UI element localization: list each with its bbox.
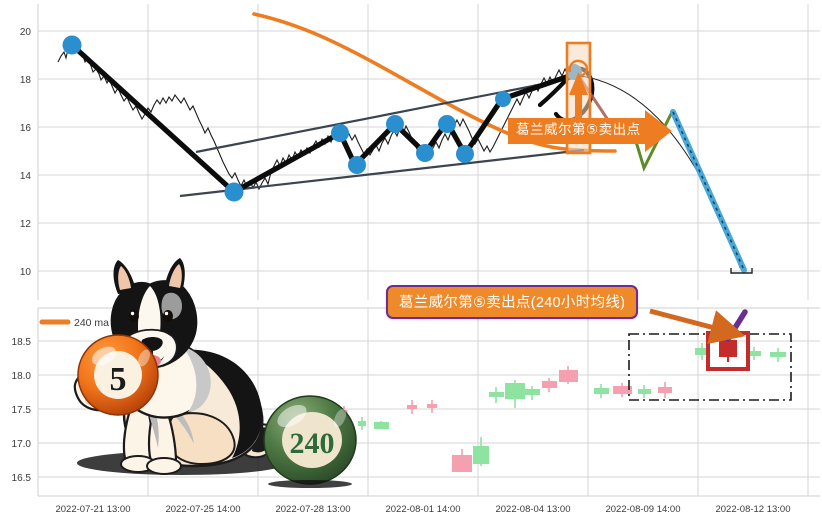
pivot-dot	[63, 36, 82, 55]
y-tick-20: 20	[20, 27, 32, 38]
candle-body	[594, 388, 609, 394]
pivot-dot	[438, 115, 456, 133]
pivot-dot	[456, 145, 474, 163]
top-chart-y-axis: 20 18 16 14 12 10	[20, 27, 32, 278]
x-tick-2: 2022-07-28 13:00	[275, 504, 350, 515]
sell-point-detail-label: 葛兰威尔第⑤卖出点(240小时均线)	[386, 285, 638, 319]
x-tick-5: 2022-08-09 14:00	[605, 504, 680, 515]
y-tick-17-0: 17.0	[12, 439, 32, 450]
ball-orange-number: 5	[110, 361, 127, 398]
candle-body	[407, 405, 417, 409]
candle-body	[427, 404, 437, 408]
candle-body	[770, 352, 786, 357]
candle-body	[505, 383, 525, 399]
x-tick-0: 2022-07-21 13:00	[55, 504, 130, 515]
y-tick-18: 18	[20, 75, 32, 86]
pivot-dot	[225, 183, 244, 202]
y-tick-18-0: 18.0	[12, 371, 32, 382]
x-axis-labels: 2022-07-21 13:00 2022-07-25 14:00 2022-0…	[55, 504, 790, 515]
y-tick-16-5: 16.5	[12, 473, 32, 484]
chart-screenshot-root: 20 18 16 14 12 10	[0, 0, 822, 520]
ball-orange-5: 5	[78, 335, 158, 415]
candle-body	[638, 389, 651, 394]
pivot-dot	[416, 144, 434, 162]
pivot-dot	[386, 115, 404, 133]
pivot-dot	[348, 156, 366, 174]
y-tick-12: 12	[20, 219, 32, 230]
candle-body	[452, 455, 472, 472]
candle-body	[473, 446, 489, 464]
y-tick-14: 14	[20, 171, 32, 182]
pivot-dot	[331, 124, 349, 142]
candle-body	[542, 381, 557, 388]
x-tick-4: 2022-08-04 13:00	[495, 504, 570, 515]
candle-body	[658, 387, 672, 393]
x-tick-3: 2022-08-01 14:00	[385, 504, 460, 515]
legend-label-240ma: 240 ma	[74, 317, 109, 329]
y-tick-10: 10	[20, 267, 32, 278]
x-tick-6: 2022-08-12 13:00	[715, 504, 790, 515]
bottom-chart-y-axis: 18.5 18.0 17.5 17.0 16.5	[12, 337, 32, 484]
y-tick-16: 16	[20, 123, 32, 134]
ball-green-number: 240	[290, 427, 335, 460]
candle-body	[489, 392, 504, 397]
candle-body	[358, 421, 366, 426]
candle-body	[374, 422, 389, 429]
y-tick-18-5: 18.5	[12, 337, 32, 348]
y-tick-17-5: 17.5	[12, 405, 32, 416]
chart-canvas: 20 18 16 14 12 10	[0, 0, 822, 520]
candle-body-highlighted	[719, 340, 737, 357]
x-tick-1: 2022-07-25 14:00	[165, 504, 240, 515]
candle-body	[559, 370, 578, 382]
candle-body	[525, 389, 540, 395]
pivot-dot	[495, 91, 511, 107]
